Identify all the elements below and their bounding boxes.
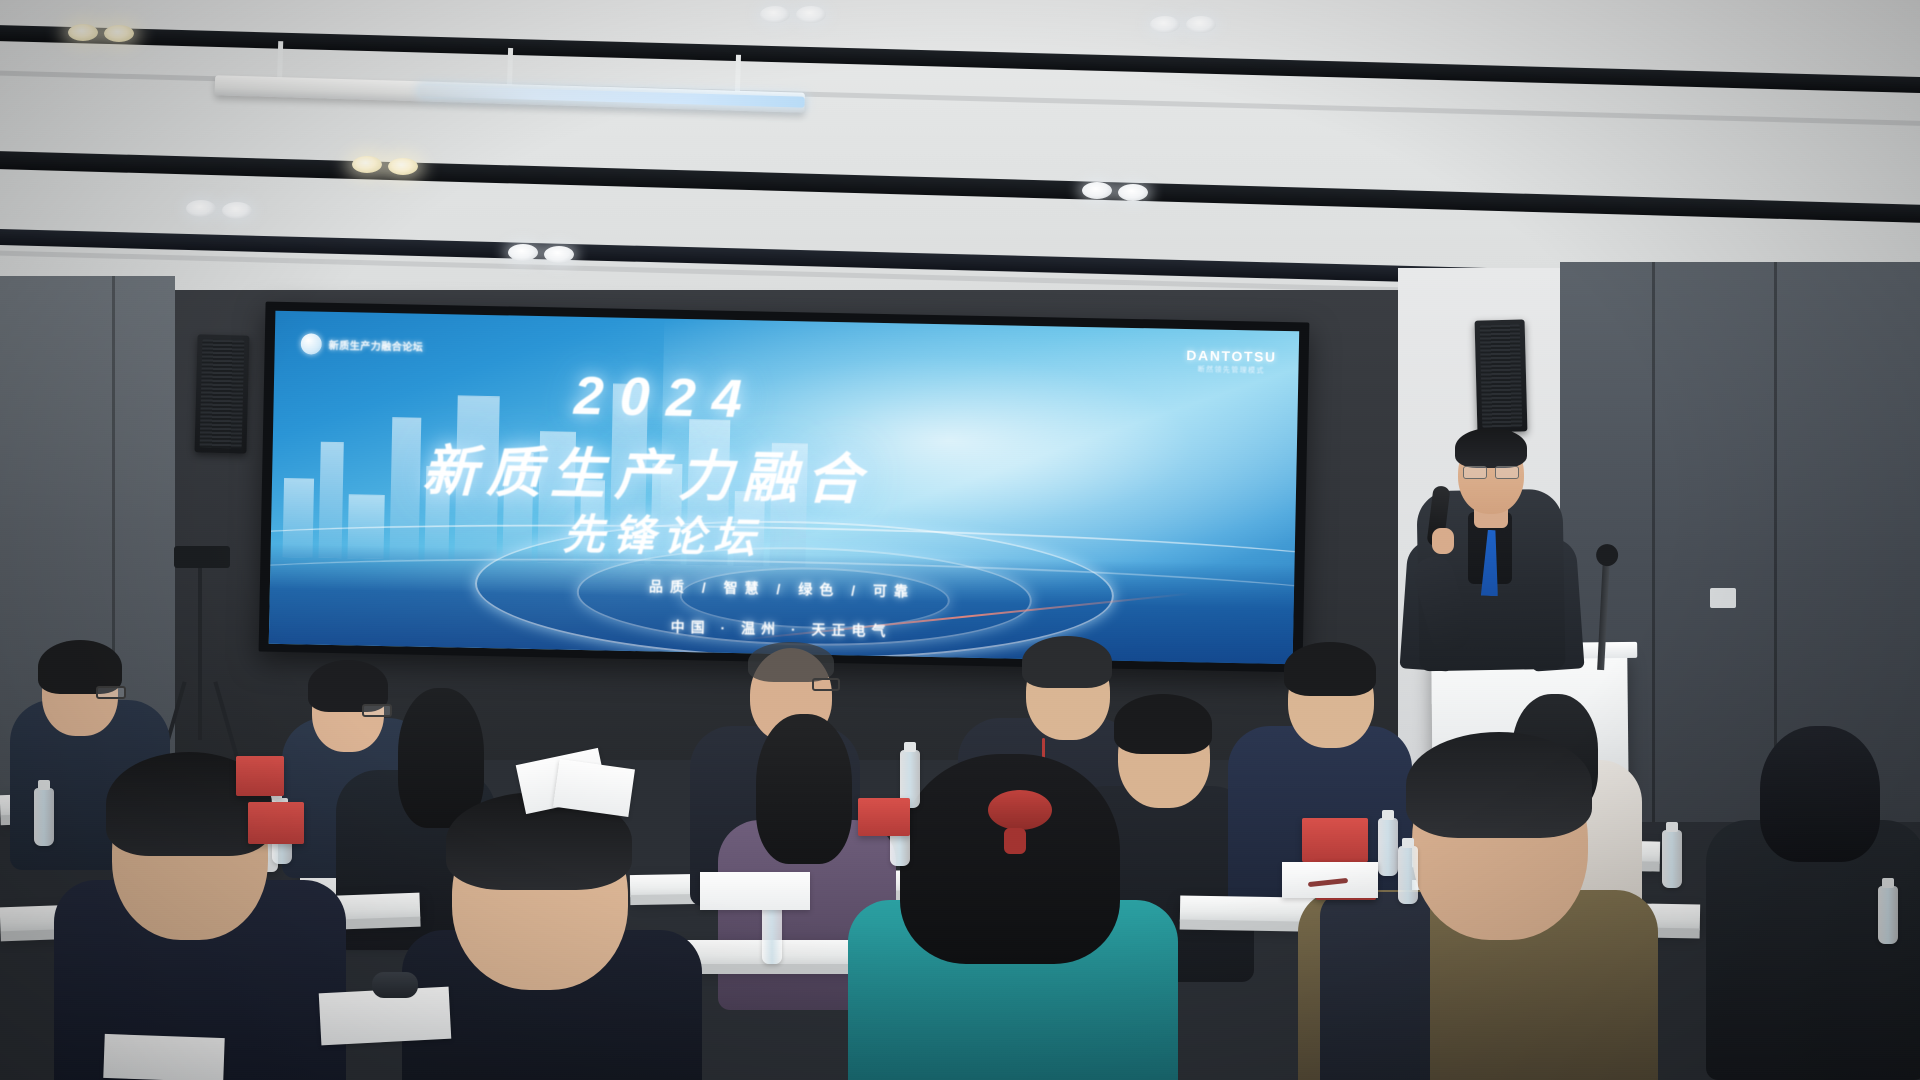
camera-tripod (198, 560, 202, 740)
water-bottle (34, 788, 54, 846)
hair-bow (988, 790, 1052, 830)
eyeglasses-icon (1463, 466, 1519, 477)
gift-box (236, 756, 284, 796)
ceiling-light (1082, 182, 1112, 199)
camera-icon (174, 546, 230, 568)
screenshot-scene: 新质生产力融合论坛 DANTOTSU 断然领先管理模式 2024 新质生产力融合… (0, 0, 1920, 1080)
slide-content: 新质生产力融合论坛 DANTOTSU 断然领先管理模式 2024 新质生产力融合… (269, 311, 1299, 664)
note-paper (700, 872, 810, 910)
slide-logo-right: DANTOTSU 断然领先管理模式 (1186, 347, 1277, 376)
eyeglasses-icon (812, 678, 840, 691)
slide-logo-left: 新质生产力融合论坛 (301, 333, 424, 356)
ceiling-light (1150, 16, 1180, 33)
forum-emblem-icon (301, 333, 322, 354)
eyeglasses-icon (362, 704, 392, 717)
hair (1022, 636, 1112, 688)
note-paper (103, 1034, 224, 1080)
fixture-rod (507, 48, 513, 88)
ceiling-light (508, 244, 538, 261)
hair-bow-knot (1004, 828, 1026, 854)
ceiling-light (186, 200, 216, 217)
wall-speaker (194, 334, 249, 453)
jacket-shoulder (1320, 892, 1430, 1080)
ceiling-beam (0, 150, 1920, 224)
water-bottle (1878, 886, 1898, 944)
hair (748, 642, 834, 682)
water-bottle (762, 906, 782, 964)
ceiling-light (1118, 184, 1148, 201)
water-bottle (1398, 846, 1418, 904)
ceiling-light (68, 24, 98, 41)
hair (1406, 732, 1592, 838)
computer-mouse (372, 972, 418, 998)
dantotsu-subtext: 断然领先管理模式 (1186, 364, 1277, 376)
fixture-rod (735, 55, 741, 95)
note-paper (553, 759, 635, 817)
hair (1284, 642, 1376, 696)
eyeglasses-icon (96, 686, 126, 699)
hair (756, 714, 852, 864)
gift-box (858, 798, 910, 836)
gift-box (248, 802, 304, 844)
slide-logo-left-text: 新质生产力融合论坛 (329, 337, 424, 354)
led-video-wall: 新质生产力融合论坛 DANTOTSU 断然领先管理模式 2024 新质生产力融合… (259, 302, 1310, 673)
ceiling-light (222, 202, 252, 219)
slide-title-line2: 先锋论坛 (562, 501, 763, 566)
wall-speaker (1475, 319, 1528, 432)
slide-year: 2024 (573, 365, 758, 431)
wall-switch-plate (1710, 588, 1736, 608)
water-bottle (1378, 818, 1398, 876)
dantotsu-wordmark: DANTOTSU (1186, 347, 1277, 365)
fixture-rod (277, 41, 283, 81)
ceiling-light (1186, 16, 1216, 33)
gift-box (1302, 818, 1368, 862)
ceiling-light (388, 158, 418, 175)
ceiling (0, 0, 1920, 300)
ceiling-light (544, 246, 574, 263)
ceiling-light (796, 6, 826, 23)
hanging-light-fixture (214, 53, 805, 118)
hair (900, 754, 1120, 964)
ceiling-light (760, 6, 790, 23)
ceiling-light (104, 25, 134, 42)
ceiling-light (352, 156, 382, 173)
hair (1760, 726, 1880, 862)
water-bottle (1662, 830, 1682, 888)
hair (1114, 694, 1212, 754)
